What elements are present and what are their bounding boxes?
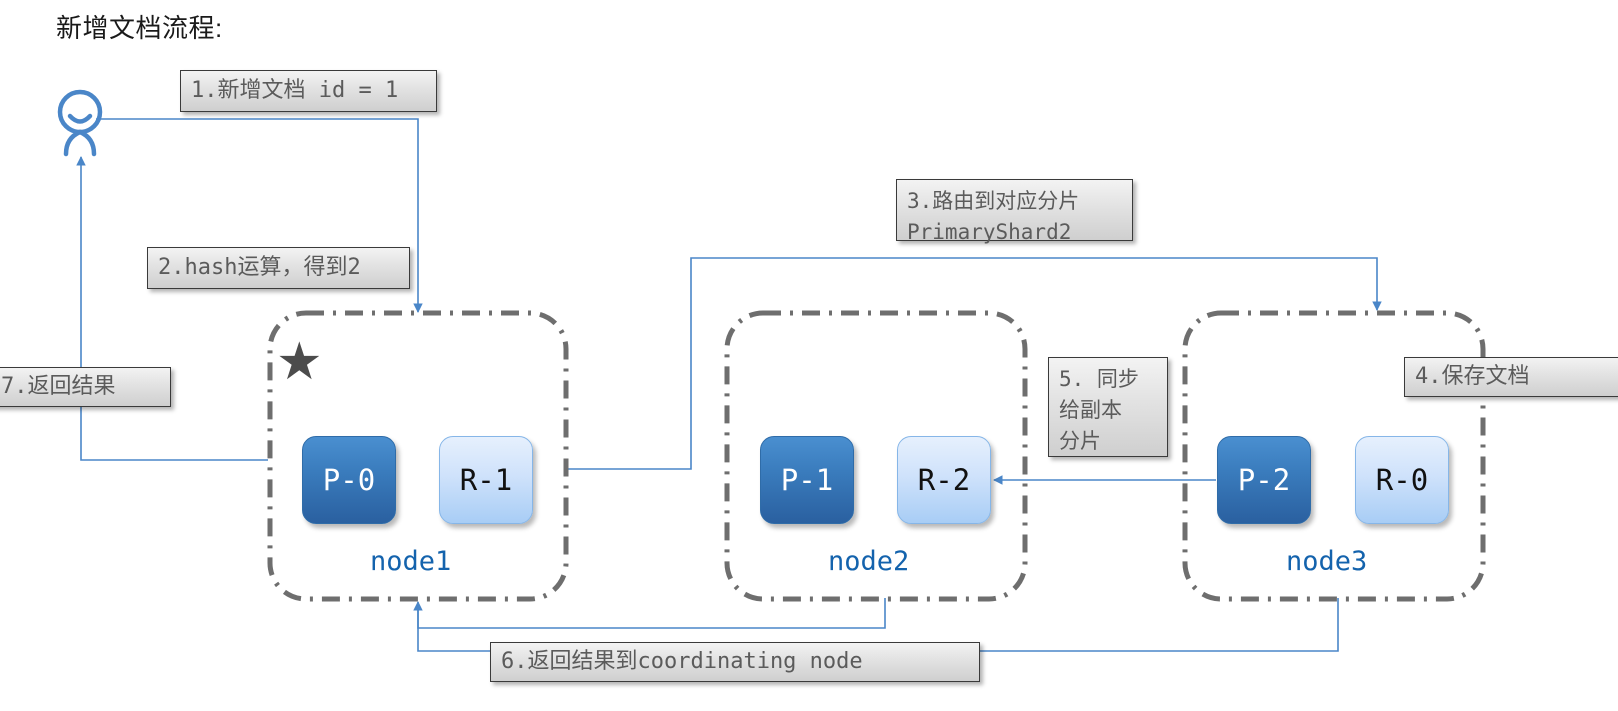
shard-p1[interactable]: P-1 — [760, 436, 854, 524]
node2-label: node2 — [828, 546, 909, 577]
shard-r0[interactable]: R-0 — [1355, 436, 1449, 524]
connector-node1-to-user — [81, 157, 268, 460]
shard-p2[interactable]: P-2 — [1217, 436, 1311, 524]
shard-r1[interactable]: R-1 — [439, 436, 533, 524]
node1-label: node1 — [370, 546, 451, 577]
shard-r2[interactable]: R-2 — [897, 436, 991, 524]
callout-step3: 3.路由到对应分片 PrimaryShard2 — [896, 179, 1133, 241]
diagram-canvas: 新增文档流程: 1.新增文档 id = 1 2.hash运算，得到2 3.路由到… — [0, 0, 1618, 711]
page-title: 新增文档流程: — [56, 8, 223, 45]
callout-step2: 2.hash运算，得到2 — [147, 247, 410, 289]
user-stick-figure-icon — [60, 92, 100, 154]
callout-step7: 7.返回结果 — [0, 367, 171, 407]
star-icon: ★ — [276, 336, 323, 388]
shard-p0[interactable]: P-0 — [302, 436, 396, 524]
callout-step6: 6.返回结果到coordinating node — [490, 642, 980, 682]
callout-step5: 5. 同步 给副本 分片 — [1048, 357, 1168, 457]
callout-step1: 1.新增文档 id = 1 — [180, 70, 437, 112]
connector-node2-to-node1 — [418, 598, 885, 628]
node3-label: node3 — [1286, 546, 1367, 577]
